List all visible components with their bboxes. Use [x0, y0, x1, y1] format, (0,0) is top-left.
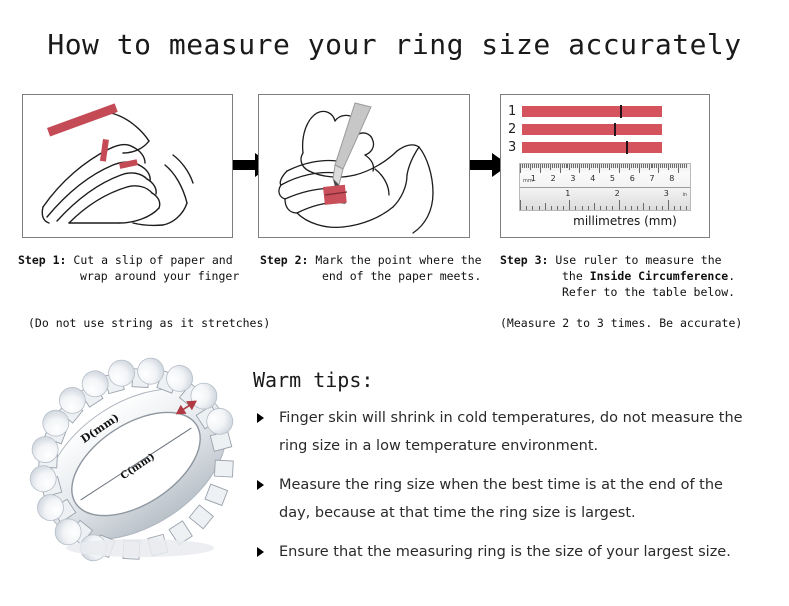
ruler-tick	[522, 164, 523, 168]
ruler-tick	[645, 164, 646, 168]
ruler-tick	[564, 164, 565, 168]
strip-mark-3	[626, 141, 628, 154]
ruler-tick	[629, 164, 630, 170]
ruler-tick	[556, 164, 557, 168]
ruler-tick	[676, 164, 677, 168]
ruler-tick	[595, 164, 596, 168]
ruler-tick-inch	[545, 203, 546, 210]
ruler-tick	[603, 164, 604, 168]
ruler-cm-number: 2	[551, 175, 556, 183]
ruler-tick-inch	[582, 206, 583, 210]
ruler-tick	[579, 164, 580, 173]
step-1-label: Step 1:	[18, 253, 66, 267]
step-3-line1: Use ruler to measure the	[548, 253, 721, 267]
strip-number-1: 1	[508, 104, 522, 119]
hand-with-paper-strip-icon	[23, 95, 234, 239]
ruler-tick	[623, 164, 624, 168]
step-1-line2: wrap around your finger	[18, 268, 248, 284]
ruler-tick-inch	[649, 206, 650, 210]
ruler-tick	[573, 164, 574, 168]
ruler-tick-inch	[656, 206, 657, 210]
ruler-tick	[686, 164, 687, 168]
ruler-tick	[534, 164, 535, 168]
step-2-illustration-panel	[258, 94, 470, 238]
ruler-tick	[625, 164, 626, 168]
ruler-tick	[577, 164, 578, 168]
paper-strip-1	[522, 106, 662, 117]
ruler-tick	[660, 164, 661, 168]
ruler-tick	[591, 164, 592, 168]
ruler-tick	[526, 164, 527, 168]
ruler-tick	[668, 164, 669, 170]
ruler-tick-inch	[606, 206, 607, 210]
bullet-triangle-icon	[257, 480, 264, 490]
ruler-tick-inch	[631, 206, 632, 210]
ruler-tick	[613, 164, 614, 168]
ruler-tick	[680, 164, 681, 168]
ruler-tick-inch	[575, 206, 576, 210]
ruler-tick	[599, 164, 600, 173]
ruler-tick	[548, 164, 549, 168]
ruler-unit-inch-label: in	[682, 192, 687, 198]
ruler-tick	[583, 164, 584, 168]
warm-tips-list: Finger skin will shrink in cold temperat…	[253, 404, 753, 577]
paper-strip-2	[522, 124, 662, 135]
ruler-tick	[654, 164, 655, 168]
strip-mark-2	[614, 123, 616, 136]
ruler-tick-inch	[643, 203, 644, 210]
ruler-tick	[530, 164, 531, 170]
ruler-tick	[684, 164, 685, 168]
ruler-tick	[528, 164, 529, 168]
ruler-tick-inch	[619, 200, 620, 210]
ruler-tick	[637, 164, 638, 168]
ruler-inch-number: 3	[664, 190, 669, 198]
step-3-label: Step 3:	[500, 253, 548, 267]
ruler-tick	[546, 164, 547, 168]
ruler-cm-number: 4	[590, 175, 595, 183]
bullet-triangle-icon	[257, 547, 264, 557]
paper-strip-row-3: 3	[508, 140, 662, 155]
inside-circumference-emphasis: Inside Circumference	[590, 269, 728, 283]
ruler-tick	[560, 164, 561, 173]
ruler-tick	[571, 164, 572, 168]
ruler-tick	[674, 164, 675, 168]
tip-text: Ensure that the measuring ring is the si…	[279, 544, 731, 560]
ruler-tick	[538, 164, 539, 168]
ruler-tick	[597, 164, 598, 168]
ruler-tick-inch	[637, 206, 638, 210]
ruler-tick	[554, 164, 555, 168]
tip-text: Measure the ring size when the best time…	[279, 477, 723, 521]
tip-item: Ensure that the measuring ring is the si…	[253, 538, 753, 566]
ruler-tick	[542, 164, 543, 168]
ruler-tick-inch	[674, 206, 675, 210]
ruler-tick	[666, 164, 667, 168]
ruler-tick	[672, 164, 673, 168]
ruler-tick	[678, 164, 679, 173]
step-2-caption: Step 2: Mark the point where the end of …	[260, 252, 495, 284]
ruler-tick-inch	[625, 206, 626, 210]
ruler-tick	[656, 164, 657, 168]
ruler-cm-number: 8	[669, 175, 674, 183]
ruler-tick	[524, 164, 525, 168]
ruler-tick	[558, 164, 559, 168]
ruler-tick	[651, 164, 652, 168]
step-2-label: Step 2:	[260, 253, 308, 267]
ruler-tick	[643, 164, 644, 168]
ruler-tick	[641, 164, 642, 168]
warm-tips-heading: Warm tips:	[253, 368, 373, 392]
ruler-tick	[581, 164, 582, 168]
paper-strip-row-1: 1	[508, 104, 662, 119]
paper-strip-row-2: 2	[508, 122, 662, 137]
ruler-tick-inch	[662, 206, 663, 210]
ruler-tick	[633, 164, 634, 168]
step-3-line3: Refer to the table below.	[500, 284, 750, 300]
ruler-tick-inch	[569, 200, 570, 210]
ruler-tick	[552, 164, 553, 168]
ruler-tick-inch	[668, 200, 669, 210]
ruler-tick	[593, 164, 594, 168]
ruler-tick-inch	[551, 206, 552, 210]
step-1-caption: Step 1: Cut a slip of paper and wrap aro…	[18, 252, 248, 284]
hand-marking-paper-icon	[259, 95, 471, 239]
ruler-tick	[619, 164, 620, 173]
ruler-tick-inch	[563, 206, 564, 210]
ruler-cm-number: 1	[531, 175, 536, 183]
ruler-tick	[532, 164, 533, 168]
step-3-line2-pre: the	[562, 269, 590, 283]
strip-number-3: 3	[508, 140, 522, 155]
ruler-tick	[566, 164, 567, 168]
ruler-cm-number: 3	[570, 175, 575, 183]
ruler-tick-inch	[600, 206, 601, 210]
ruler-tick-inch	[680, 206, 681, 210]
strip-number-2: 2	[508, 122, 522, 137]
step-2-line1: Mark the point where the	[308, 253, 481, 267]
ruler-tick-inch	[557, 206, 558, 210]
tip-item: Finger skin will shrink in cold temperat…	[253, 404, 753, 460]
step-3-caption: Step 3: Use ruler to measure the the Ins…	[500, 252, 750, 300]
page-title: How to measure your ring size accurately	[0, 28, 789, 61]
ruler-tick	[670, 164, 671, 168]
ruler-tick	[664, 164, 665, 168]
ruler-tick	[621, 164, 622, 168]
ruler-tick	[569, 164, 570, 170]
ruler-tick-inch	[520, 200, 521, 210]
ruler-caption: millimetres (mm)	[540, 214, 710, 228]
ruler-cm-number: 7	[650, 175, 655, 183]
ruler-tick	[536, 164, 537, 168]
ruler-tick	[575, 164, 576, 168]
step-1-line1: Cut a slip of paper and	[66, 253, 232, 267]
ruler-tick	[611, 164, 612, 168]
ruler-graphic: mm in 12345678123	[519, 163, 691, 211]
ruler-tick	[662, 164, 663, 168]
ruler-tick	[658, 164, 659, 173]
step-3-note: (Measure 2 to 3 times. Be accurate)	[500, 316, 742, 330]
ruler-tick	[682, 164, 683, 168]
ruler-tick	[589, 164, 590, 170]
ruler-tick	[647, 164, 648, 168]
ruler-tick	[635, 164, 636, 168]
paper-strip-3	[522, 142, 662, 153]
ruler-cm-number: 5	[610, 175, 615, 183]
ruler-tick	[615, 164, 616, 168]
ruler-tick-inch	[612, 206, 613, 210]
ruler-tick	[605, 164, 606, 168]
ruler-tick-inch	[594, 203, 595, 210]
ruler-tick	[609, 164, 610, 170]
ruler-tick-inch	[588, 206, 589, 210]
ruler-tick	[631, 164, 632, 168]
infographic-root: How to measure your ring size accurately	[0, 0, 789, 606]
ruler-tick-inch	[686, 206, 687, 210]
bullet-triangle-icon	[257, 413, 264, 423]
ruler-tick	[639, 164, 640, 173]
ruler-inch-number: 1	[565, 190, 570, 198]
ruler-tick	[652, 164, 653, 168]
ruler-tick	[607, 164, 608, 168]
step-3-line2-post: .	[728, 269, 735, 283]
ruler-tick	[617, 164, 618, 168]
ruler-midline	[520, 187, 690, 188]
step-2-line2: end of the paper meets.	[260, 268, 495, 284]
ruler-tick	[585, 164, 586, 168]
step-1-note: (Do not use string as it stretches)	[28, 316, 270, 330]
ruler-tick-inch	[526, 206, 527, 210]
ruler-inch-number: 2	[615, 190, 620, 198]
ruler-tick	[544, 164, 545, 168]
ruler-tick	[562, 164, 563, 168]
step-1-illustration-panel	[22, 94, 233, 238]
ruler-tick-inch	[539, 206, 540, 210]
ruler-tick	[540, 164, 541, 173]
tip-text: Finger skin will shrink in cold temperat…	[279, 410, 743, 454]
ruler-tick	[649, 164, 650, 170]
ruler-tick	[587, 164, 588, 168]
ruler-tick	[550, 164, 551, 170]
strip-mark-1	[620, 105, 622, 118]
ruler-tick-inch	[532, 206, 533, 210]
step-3-line2: the Inside Circumference.	[500, 268, 750, 284]
tip-item: Measure the ring size when the best time…	[253, 471, 753, 527]
ruler-cm-number: 6	[630, 175, 635, 183]
ruler-tick	[520, 164, 521, 173]
ruler-tick	[601, 164, 602, 168]
ruler-tick	[567, 164, 568, 168]
ruler-tick	[627, 164, 628, 168]
